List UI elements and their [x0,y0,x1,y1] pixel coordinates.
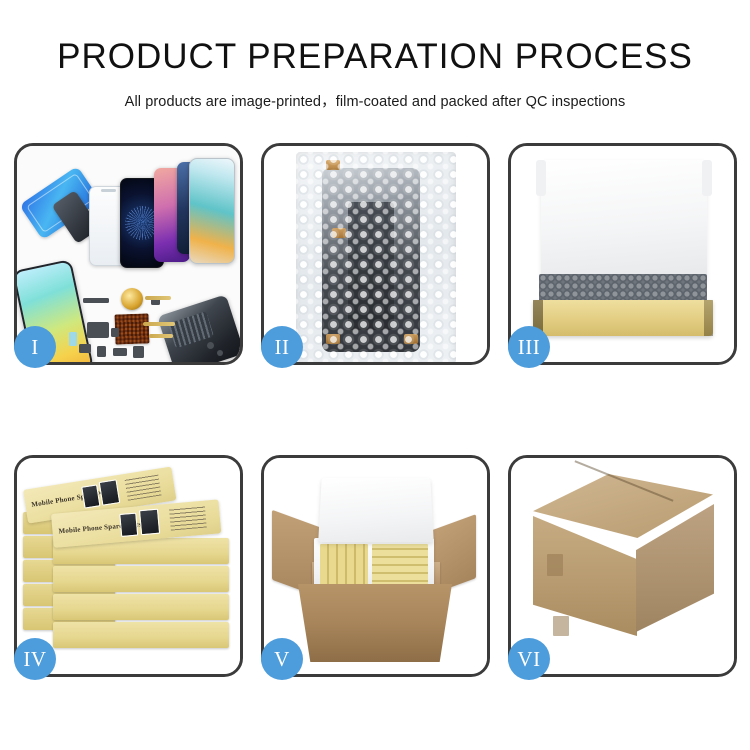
stacked-box [53,566,229,592]
page-subtitle: All products are image-printed，film-coat… [0,90,750,111]
page-title: PRODUCT PREPARATION PROCESS [0,38,750,77]
part-icon [97,346,106,357]
box-thumbnail [99,479,121,506]
header: PRODUCT PREPARATION PROCESS All products… [0,38,750,111]
product-preparation-infographic: PRODUCT PREPARATION PROCESS All products… [0,0,750,750]
step-5-image [264,458,487,674]
stacked-box [53,622,229,648]
logic-board-icon [114,313,149,344]
tape-tab-icon [404,334,418,344]
flex-cable-icon [149,334,173,338]
step-panel-6: VI [508,455,737,677]
screw-icon [217,350,223,356]
speaker-module-icon [121,288,143,310]
bubble-wrap-bag-icon [296,152,456,362]
step-badge-3: III [508,326,550,368]
step-panel-4: Mobile Phone Spare Parts Mobile Phone Sp… [14,455,243,677]
part-icon [69,332,77,346]
screw-icon [207,342,214,349]
step-2-image [264,146,487,362]
stacked-box [53,594,229,620]
tape-tab-icon [332,228,346,238]
step-badge-4: IV [14,638,56,680]
step-panel-3: III [508,143,737,365]
opened-phone-back-icon [157,294,240,362]
teal-phone-icon [189,158,235,264]
step-badge-1: I [14,326,56,368]
step-panel-5: V [261,455,490,677]
carton-front-face-icon [533,516,637,636]
wrapped-screen-icon [322,168,420,352]
step-panel-2: II [261,143,490,365]
part-icon [79,344,91,353]
box-thumbnail [81,484,100,508]
part-icon [133,346,144,358]
yellow-boxes-row [320,544,368,588]
step-badge-2: II [261,326,303,368]
white-foam-lid-icon [541,160,707,280]
box-thumbnail [119,513,138,537]
yellow-boxes-row [372,544,428,588]
step-6-image [511,458,734,674]
part-icon [111,328,119,337]
brown-carton-body-icon [298,584,452,662]
box-spec-lines [169,506,207,531]
step-4-image: Mobile Phone Spare Parts Mobile Phone Sp… [17,458,240,674]
tape-tab-icon [326,334,340,344]
step-badge-5: V [261,638,303,680]
part-icon [113,348,127,356]
step-3-image [511,146,734,362]
grey-bubble-contents-icon [539,274,707,302]
box-thumbnail [139,509,160,536]
step-1-image [17,146,240,362]
box-stack: Mobile Phone Spare Parts Mobile Phone Sp… [23,472,235,668]
foam-box-lid-icon [318,478,434,543]
step-panel-1: I [14,143,243,365]
box-spec-lines [125,474,162,501]
flex-cable-icon [145,296,171,300]
tape-tab-icon [326,160,340,170]
flex-cable-icon [143,322,175,326]
carton-tape-patch-icon [553,616,569,636]
steps-grid: I II III [14,143,736,677]
step-badge-6: VI [508,638,550,680]
yellow-inner-box-icon [533,300,713,336]
carton-tape-patch-icon [547,554,563,576]
part-icon [87,322,109,338]
part-icon [83,298,109,303]
